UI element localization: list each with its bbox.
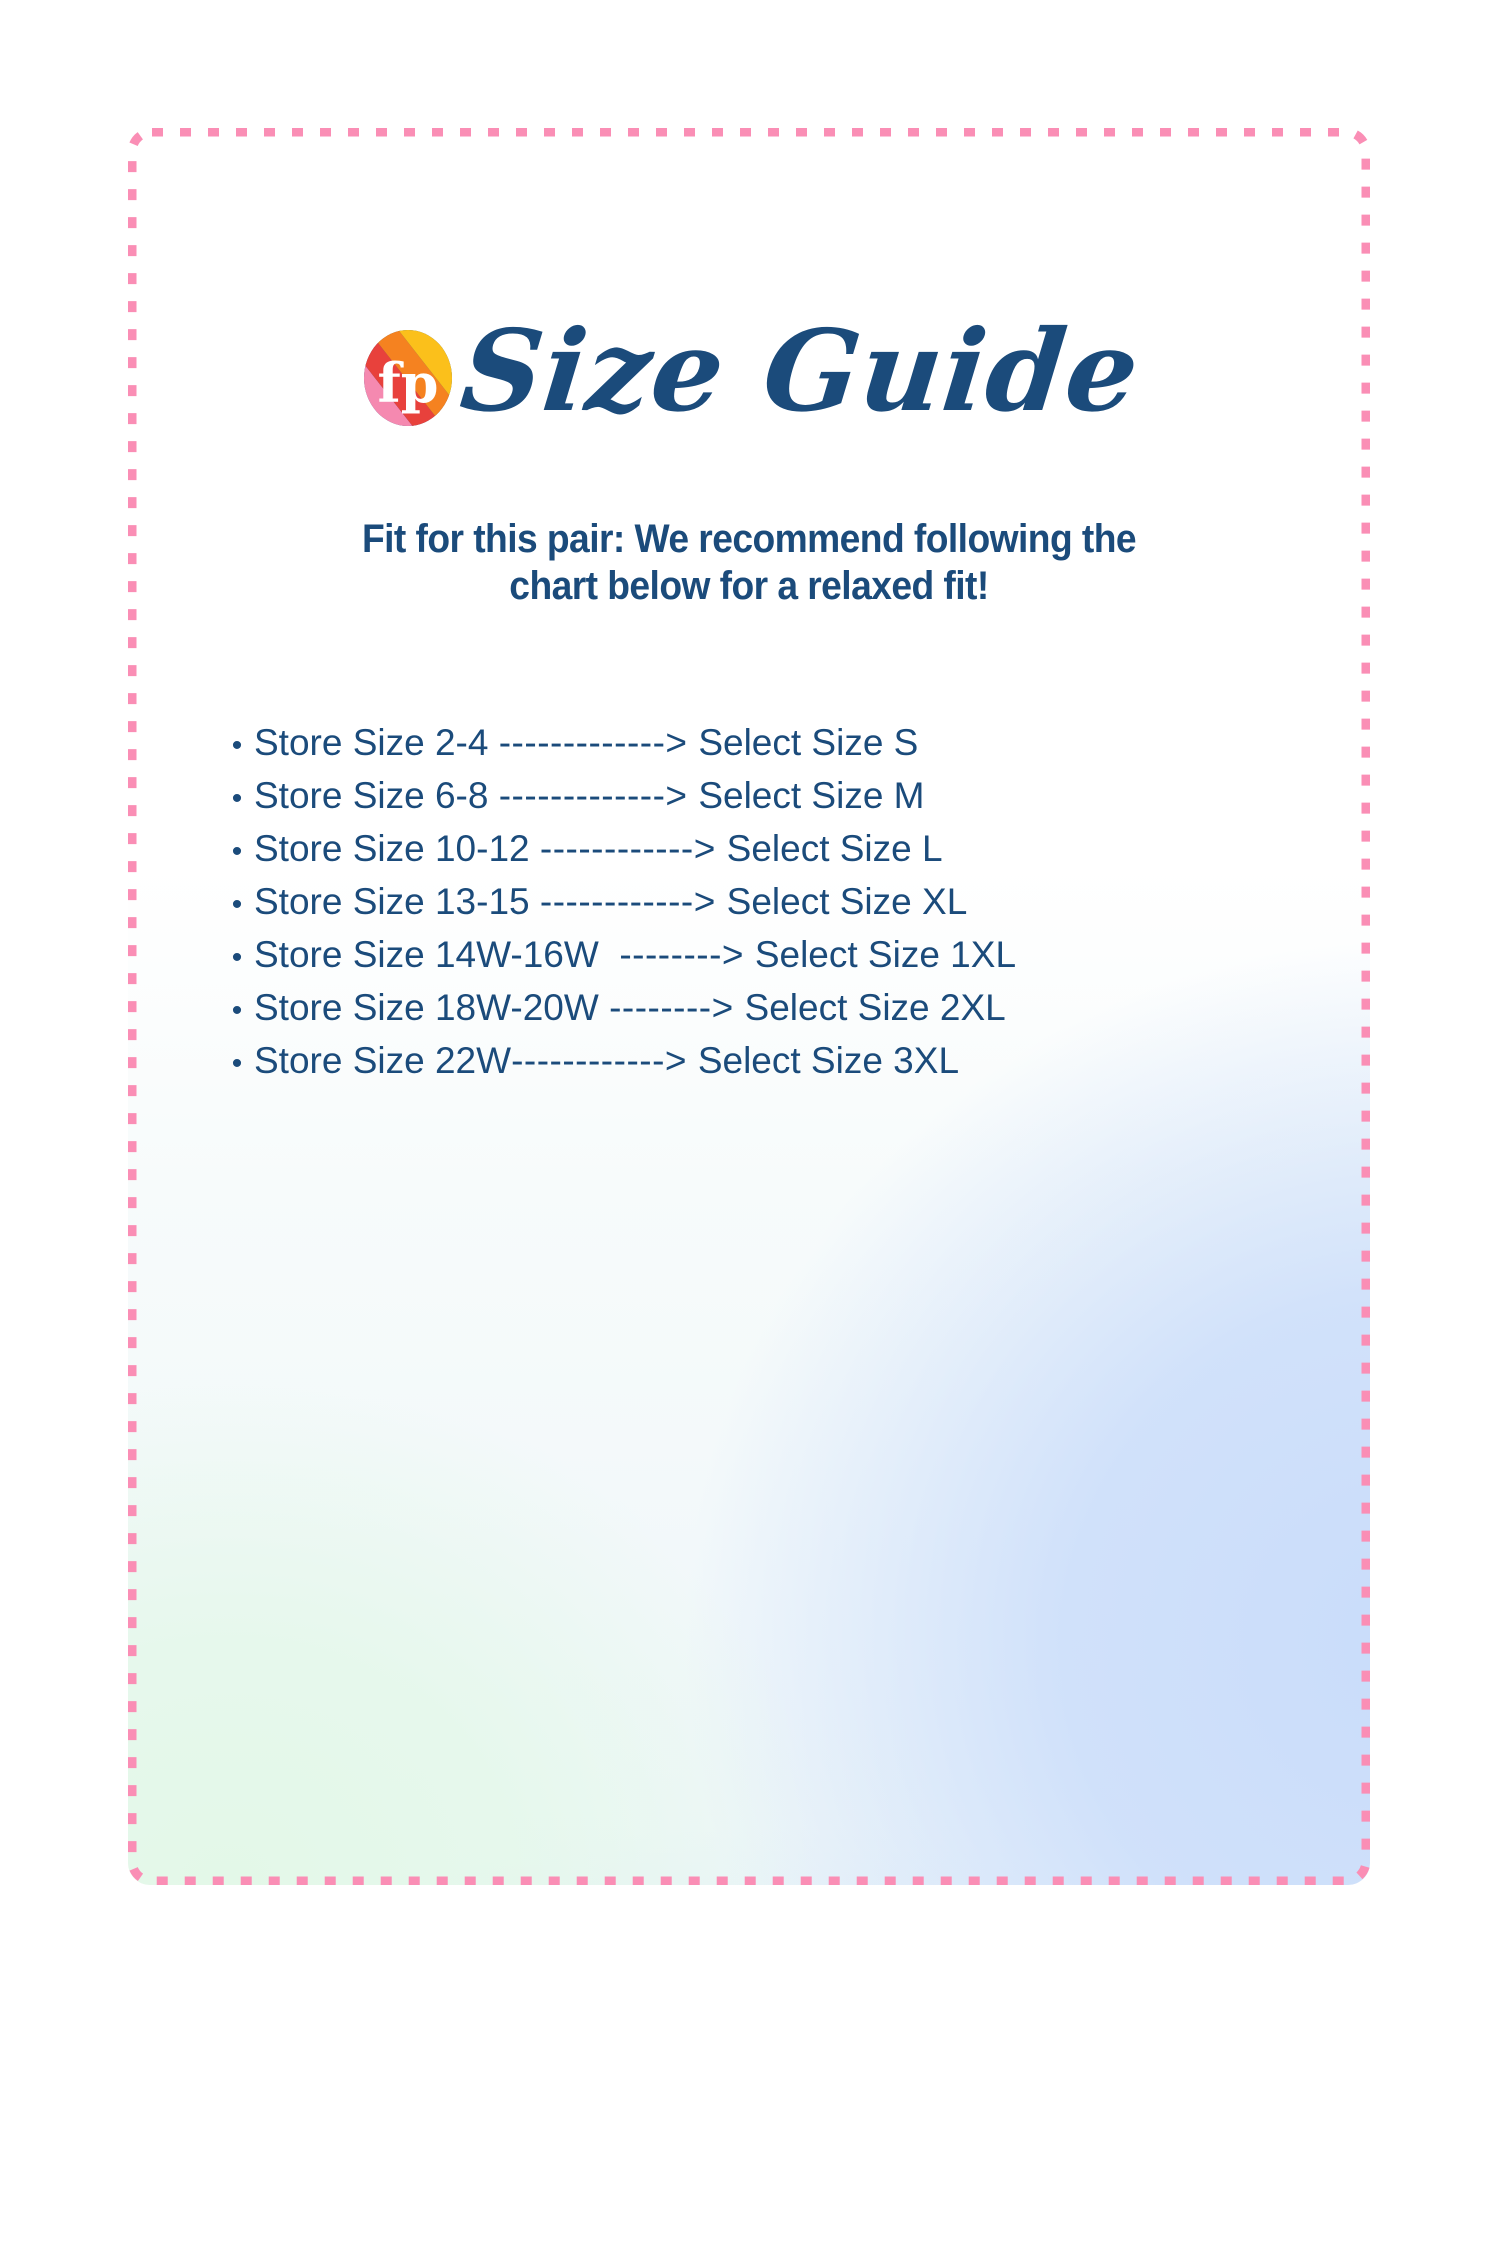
store-size-label: Store Size 6-8 bbox=[254, 769, 499, 822]
store-size-label: Store Size 13-15 bbox=[254, 875, 540, 928]
store-size-label: Store Size 2-4 bbox=[254, 716, 499, 769]
dashed-arrow-icon: ------------> bbox=[540, 875, 727, 928]
select-size-label: Select Size L bbox=[727, 822, 943, 875]
select-size-label: Select Size 1XL bbox=[755, 928, 1016, 981]
store-size-label: Store Size 18W-20W bbox=[254, 981, 609, 1034]
dashed-arrow-icon: ------------> bbox=[540, 822, 727, 875]
store-size-label: Store Size 22W bbox=[254, 1034, 511, 1087]
brand-header: fp Size Guide bbox=[128, 300, 1370, 450]
size-chart-row: • Store Size 10-12 ------------> Select … bbox=[220, 822, 1320, 875]
dashed-arrow-icon: -------------> bbox=[499, 769, 699, 822]
bullet-icon: • bbox=[220, 825, 254, 878]
select-size-label: Select Size XL bbox=[727, 875, 968, 928]
size-chart-row: • Store Size 18W-20W --------> Select Si… bbox=[220, 981, 1320, 1034]
size-guide-card: fp Size Guide Fit for this pair: We reco… bbox=[128, 128, 1370, 1885]
store-size-label: Store Size 10-12 bbox=[254, 822, 540, 875]
select-size-label: Select Size M bbox=[698, 769, 924, 822]
size-chart-row: • Store Size 22W ------------> Select Si… bbox=[220, 1034, 1320, 1087]
bullet-icon: • bbox=[220, 878, 254, 931]
size-chart-row: • Store Size 6-8 -------------> Select S… bbox=[220, 769, 1320, 822]
fit-heading-line-1: Fit for this pair: We recommend followin… bbox=[274, 516, 1224, 563]
size-chart-row: • Store Size 2-4 -------------> Select S… bbox=[220, 716, 1320, 769]
bullet-icon: • bbox=[220, 1037, 254, 1090]
fit-recommendation-heading: Fit for this pair: We recommend followin… bbox=[274, 516, 1224, 610]
select-size-label: Select Size 2XL bbox=[745, 981, 1006, 1034]
bullet-icon: • bbox=[220, 931, 254, 984]
select-size-label: Select Size S bbox=[698, 716, 918, 769]
store-size-label: Store Size 14W-16W bbox=[254, 928, 619, 981]
dashed-arrow-icon: --------> bbox=[619, 928, 754, 981]
size-guide-title: Size Guide bbox=[456, 316, 1144, 428]
logo-monogram-text: fp bbox=[377, 351, 438, 415]
dashed-arrow-icon: --------> bbox=[609, 981, 744, 1034]
size-chart-list: • Store Size 2-4 -------------> Select S… bbox=[220, 716, 1320, 1087]
select-size-label: Select Size 3XL bbox=[698, 1034, 959, 1087]
bullet-icon: • bbox=[220, 772, 254, 825]
size-chart-row: • Store Size 14W-16W --------> Select Si… bbox=[220, 928, 1320, 981]
dashed-arrow-icon: ------------> bbox=[511, 1034, 698, 1087]
fp-rainbow-logo-icon: fp bbox=[360, 326, 456, 430]
size-chart-row: • Store Size 13-15 ------------> Select … bbox=[220, 875, 1320, 928]
fit-heading-line-2: chart below for a relaxed fit! bbox=[274, 563, 1224, 610]
dashed-arrow-icon: -------------> bbox=[499, 716, 699, 769]
bullet-icon: • bbox=[220, 984, 254, 1037]
bullet-icon: • bbox=[220, 719, 254, 772]
